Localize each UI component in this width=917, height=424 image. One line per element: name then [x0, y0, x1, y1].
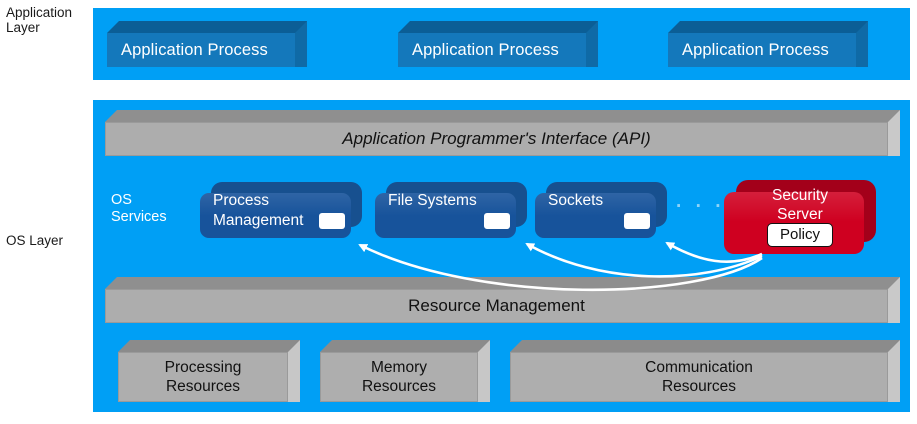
resource-label: Memory Resources [321, 358, 477, 396]
api-bar-label: Application Programmer's Interface (API) [106, 129, 887, 149]
api-bar[interactable]: Application Programmer's Interface (API) [105, 110, 900, 156]
box-top-face [118, 340, 300, 352]
service-box-file-systems[interactable]: File Systems [375, 182, 527, 238]
service-box-process-management[interactable]: Process Management [200, 182, 362, 238]
box-top-face [105, 277, 900, 289]
box-front-face: Communication Resources [510, 352, 888, 402]
box-front-face: Application Process [107, 33, 295, 67]
application-process-box-3[interactable]: Application Process [668, 21, 868, 67]
box-front-face: Application Programmer's Interface (API) [105, 122, 888, 156]
os-services-caption: OS Services [111, 192, 167, 226]
policy-hook-process-management[interactable] [319, 213, 345, 229]
application-process-label: Application Process [107, 41, 295, 60]
application-process-box-1[interactable]: Application Process [107, 21, 307, 67]
application-process-box-2[interactable]: Application Process [398, 21, 598, 67]
service-label: Sockets [548, 191, 659, 211]
resource-label: Communication Resources [511, 358, 887, 396]
layer-label-application: Application Layer [6, 5, 72, 35]
services-ellipsis: · · · [676, 196, 726, 218]
box-front-face: Application Process [668, 33, 856, 67]
box-top-face [668, 21, 868, 33]
resource-box-processing[interactable]: Processing Resources [118, 340, 300, 402]
application-process-label: Application Process [668, 41, 856, 60]
box-top-face [398, 21, 598, 33]
security-server-box[interactable]: Security Server Policy [724, 180, 876, 254]
service-box-sockets[interactable]: Sockets [535, 182, 667, 238]
box-front-face: Application Process [398, 33, 586, 67]
box-top-face [105, 110, 900, 122]
policy-hook-sockets[interactable] [624, 213, 650, 229]
security-server-label: Security Server [724, 186, 876, 224]
box-top-face [320, 340, 490, 352]
resource-box-memory[interactable]: Memory Resources [320, 340, 490, 402]
policy-hook-file-systems[interactable] [484, 213, 510, 229]
resource-box-communication[interactable]: Communication Resources [510, 340, 900, 402]
box-front-face: Memory Resources [320, 352, 478, 402]
application-process-label: Application Process [398, 41, 586, 60]
resource-management-label: Resource Management [106, 296, 887, 316]
box-top-face [107, 21, 307, 33]
layer-label-os: OS Layer [6, 233, 63, 248]
box-top-face [510, 340, 900, 352]
resource-label: Processing Resources [119, 358, 287, 396]
box-front-face: Processing Resources [118, 352, 288, 402]
policy-badge[interactable]: Policy [767, 223, 833, 247]
service-label: File Systems [388, 191, 519, 211]
diagram-canvas: Application Layer OS Layer Application P… [0, 0, 917, 424]
box-front-face: Resource Management [105, 289, 888, 323]
resource-management-bar[interactable]: Resource Management [105, 277, 900, 323]
